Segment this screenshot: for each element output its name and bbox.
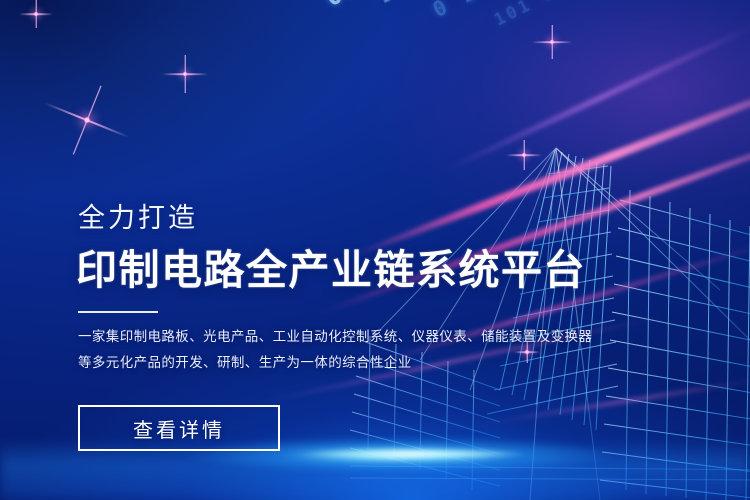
hero-description: 一家集印制电路板、光电产品、工业自动化控制系统、仪器仪表、储能装置及变换器 等多… [78,324,598,376]
hero-divider [78,311,158,313]
view-details-button[interactable]: 查看详情 [78,405,280,451]
hero-content: 全力打造 印制电路全产业链系统平台 一家集印制电路板、光电产品、工业自动化控制系… [78,0,678,500]
hero-banner: 01 001 1 0 1001 01 10 101 0011 1 01 0 11… [0,0,750,500]
hero-eyebrow: 全力打造 [78,196,198,235]
hero-description-line: 等多元化产品的开发、研制、生产为一体的综合性企业 [78,350,598,376]
hero-description-line: 一家集印制电路板、光电产品、工业自动化控制系统、仪器仪表、储能装置及变换器 [78,324,598,350]
hero-headline: 印制电路全产业链系统平台 [76,236,586,296]
